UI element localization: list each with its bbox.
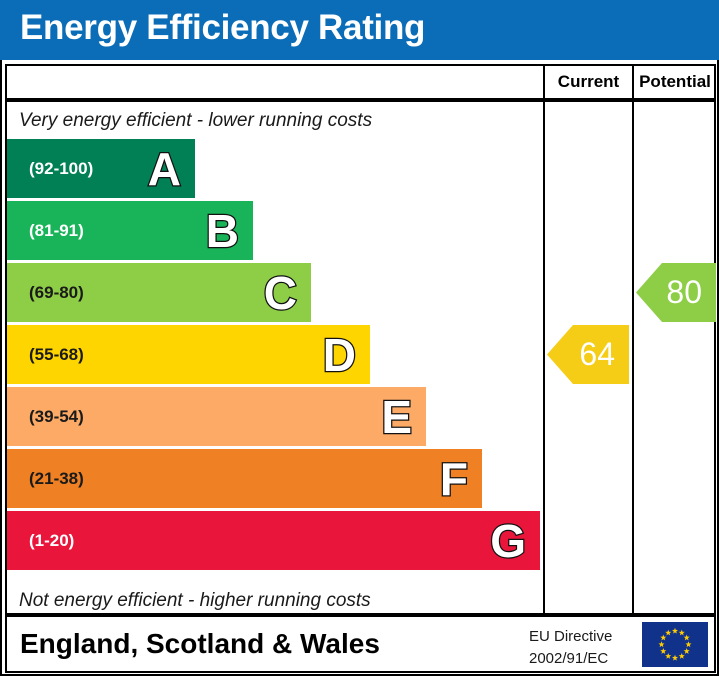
caption-efficient: Very energy efficient - lower running co…	[19, 110, 372, 132]
rating-bar-c: (69-80)C	[7, 263, 311, 322]
rating-letter-f: F	[440, 456, 468, 502]
rating-range-d: (55-68)	[29, 345, 84, 365]
energy-efficiency-certificate: Energy Efficiency Rating Current Potenti…	[0, 0, 719, 676]
page-title: Energy Efficiency Rating	[20, 8, 425, 48]
rating-letter-d: D	[323, 332, 356, 378]
title-banner: Energy Efficiency Rating	[0, 0, 719, 60]
rating-range-a: (92-100)	[29, 159, 93, 179]
rating-range-b: (81-91)	[29, 221, 84, 241]
rating-range-e: (39-54)	[29, 407, 84, 427]
rating-letter-c: C	[264, 270, 297, 316]
eu-directive-line2: 2002/91/EC	[529, 648, 634, 670]
rating-bar-b: (81-91)B	[7, 201, 253, 260]
column-header-current: Current	[543, 64, 632, 100]
rating-letter-g: G	[490, 518, 526, 564]
column-divider-current	[543, 100, 545, 615]
rating-range-c: (69-80)	[29, 283, 84, 303]
rating-bar-e: (39-54)E	[7, 387, 426, 446]
rating-letter-a: A	[148, 146, 181, 192]
rating-range-g: (1-20)	[29, 531, 74, 551]
region-label: England, Scotland & Wales	[20, 628, 380, 660]
eu-flag-icon	[642, 622, 708, 667]
rating-range-f: (21-38)	[29, 469, 84, 489]
rating-letter-e: E	[381, 394, 412, 440]
column-header-potential: Potential	[632, 64, 716, 100]
rating-bar-a: (92-100)A	[7, 139, 195, 198]
rating-letter-b: B	[206, 208, 239, 254]
eu-directive-label: EU Directive 2002/91/EC	[529, 626, 634, 670]
caption-inefficient: Not energy efficient - higher running co…	[19, 590, 371, 612]
rating-bar-f: (21-38)F	[7, 449, 482, 508]
rating-bars: (92-100)A(81-91)B(69-80)C(55-68)D(39-54)…	[7, 139, 543, 583]
eu-directive-line1: EU Directive	[529, 626, 634, 648]
rating-bar-d: (55-68)D	[7, 325, 370, 384]
rating-bar-g: (1-20)G	[7, 511, 540, 570]
column-divider-potential	[632, 100, 634, 615]
